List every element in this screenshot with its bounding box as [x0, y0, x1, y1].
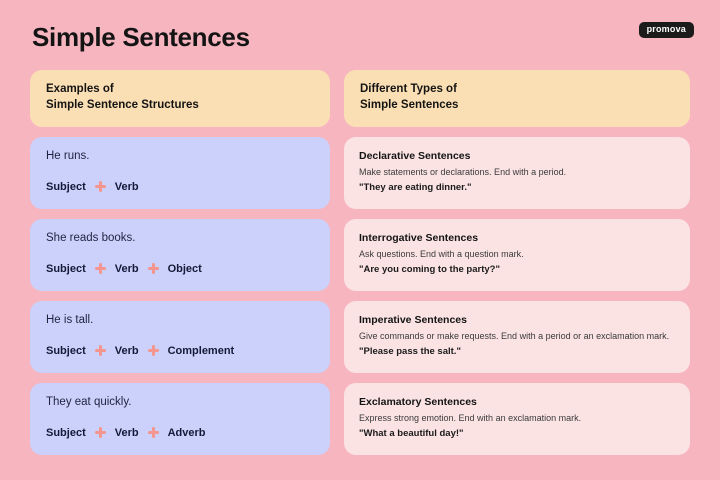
formula-part: Subject: [46, 345, 86, 357]
structure-card[interactable]: He runs. Subject Verb: [30, 137, 330, 209]
plus-icon: [95, 427, 106, 438]
left-column: Examples of Simple Sentence Structures H…: [30, 70, 330, 455]
sentence-type-description: Ask questions. End with a question mark.: [359, 248, 675, 260]
structure-card[interactable]: They eat quickly. Subject Verb Adverb: [30, 383, 330, 455]
plus-icon: [95, 263, 106, 274]
formula-part: Subject: [46, 263, 86, 275]
left-header-line-2: Simple Sentence Structures: [46, 98, 314, 114]
left-header-line-1: Examples of: [46, 82, 314, 98]
formula-part: Adverb: [168, 427, 206, 439]
formula-part: Subject: [46, 181, 86, 193]
formula-part: Subject: [46, 427, 86, 439]
plus-icon: [148, 263, 159, 274]
sentence-type-description: Express strong emotion. End with an excl…: [359, 412, 675, 424]
sentence-type-title: Interrogative Sentences: [359, 232, 675, 245]
formula-part: Verb: [115, 427, 139, 439]
sentence-type-example: "Are you coming to the party?": [359, 264, 675, 276]
plus-icon: [95, 181, 106, 192]
header-bar: Simple Sentences promova: [0, 0, 720, 62]
sentence-type-card[interactable]: Exclamatory Sentences Express strong emo…: [344, 383, 690, 455]
page-title: Simple Sentences: [32, 22, 250, 53]
sentence-type-card[interactable]: Declarative Sentences Make statements or…: [344, 137, 690, 209]
sentence-type-title: Exclamatory Sentences: [359, 396, 675, 409]
structure-example-sentence: They eat quickly.: [46, 396, 314, 410]
formula-part: Verb: [115, 263, 139, 275]
plus-icon: [95, 345, 106, 356]
structure-formula: Subject Verb: [46, 181, 314, 193]
sentence-type-example: "What a beautiful day!": [359, 428, 675, 440]
infographic-page: Simple Sentences promova Examples of Sim…: [0, 0, 720, 480]
structure-formula: Subject Verb Adverb: [46, 427, 314, 439]
structure-card[interactable]: He is tall. Subject Verb Complement: [30, 301, 330, 373]
structure-example-sentence: He is tall.: [46, 314, 314, 328]
right-column: Different Types of Simple Sentences Decl…: [344, 70, 690, 455]
columns-container: Examples of Simple Sentence Structures H…: [0, 70, 720, 455]
sentence-type-title: Declarative Sentences: [359, 150, 675, 163]
structure-card[interactable]: She reads books. Subject Verb Object: [30, 219, 330, 291]
sentence-type-card[interactable]: Interrogative Sentences Ask questions. E…: [344, 219, 690, 291]
right-column-header: Different Types of Simple Sentences: [344, 70, 690, 127]
structure-formula: Subject Verb Object: [46, 263, 314, 275]
formula-part: Verb: [115, 345, 139, 357]
right-header-line-2: Simple Sentences: [360, 98, 674, 114]
right-header-line-1: Different Types of: [360, 82, 674, 98]
sentence-type-card[interactable]: Imperative Sentences Give commands or ma…: [344, 301, 690, 373]
sentence-type-description: Give commands or make requests. End with…: [359, 330, 675, 342]
plus-icon: [148, 345, 159, 356]
sentence-type-example: "Please pass the salt.": [359, 346, 675, 358]
sentence-type-example: "They are eating dinner.": [359, 182, 675, 194]
promova-logo: promova: [639, 22, 694, 38]
sentence-type-title: Imperative Sentences: [359, 314, 675, 327]
formula-part: Object: [168, 263, 202, 275]
left-column-header: Examples of Simple Sentence Structures: [30, 70, 330, 127]
structure-example-sentence: He runs.: [46, 150, 314, 164]
formula-part: Verb: [115, 181, 139, 193]
structure-example-sentence: She reads books.: [46, 232, 314, 246]
sentence-type-description: Make statements or declarations. End wit…: [359, 166, 675, 178]
formula-part: Complement: [168, 345, 235, 357]
structure-formula: Subject Verb Complement: [46, 345, 314, 357]
plus-icon: [148, 427, 159, 438]
